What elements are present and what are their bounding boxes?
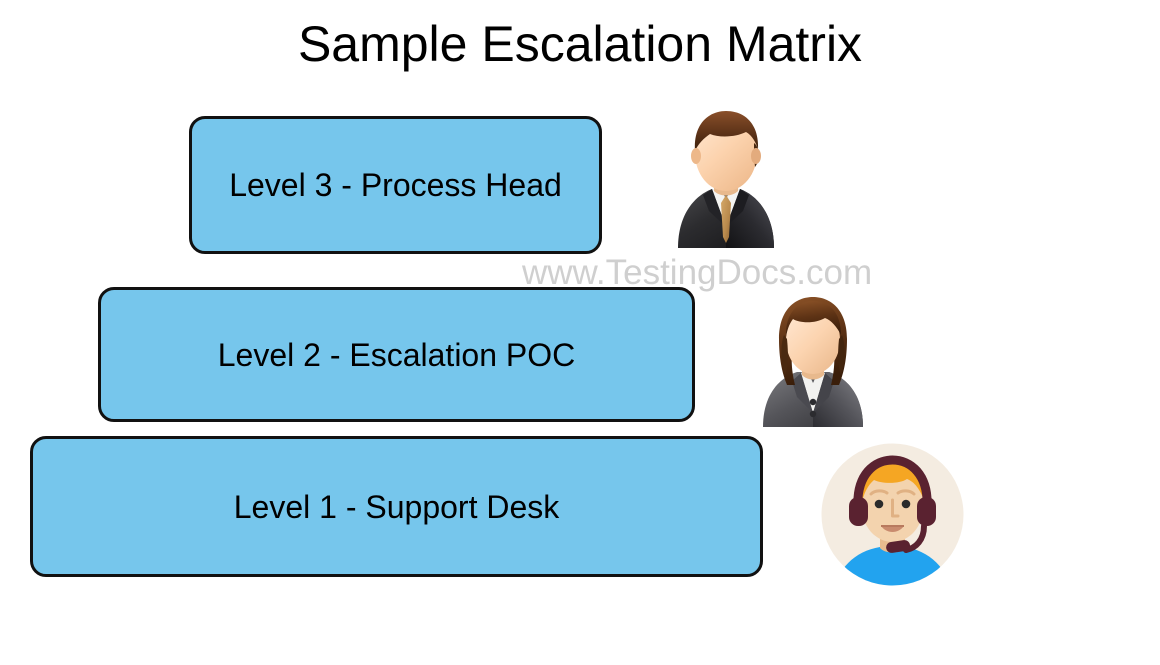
businessman-avatar xyxy=(662,103,790,248)
level-2-label: Level 2 - Escalation POC xyxy=(218,336,576,374)
escalation-matrix-slide: Sample Escalation Matrix www.TestingDocs… xyxy=(0,0,1160,665)
level-2-box[interactable]: Level 2 - Escalation POC xyxy=(98,287,695,422)
businesswoman-avatar xyxy=(753,293,873,427)
businesswoman-icon xyxy=(753,293,873,427)
support-agent-headset-icon xyxy=(820,442,965,587)
support-agent-headset-avatar xyxy=(820,442,965,587)
businessman-icon xyxy=(662,103,790,248)
level-1-box[interactable]: Level 1 - Support Desk xyxy=(30,436,763,577)
level-1-label: Level 1 - Support Desk xyxy=(234,488,560,526)
level-3-label: Level 3 - Process Head xyxy=(229,166,562,204)
page-title: Sample Escalation Matrix xyxy=(0,8,1160,80)
level-3-box[interactable]: Level 3 - Process Head xyxy=(189,116,602,254)
